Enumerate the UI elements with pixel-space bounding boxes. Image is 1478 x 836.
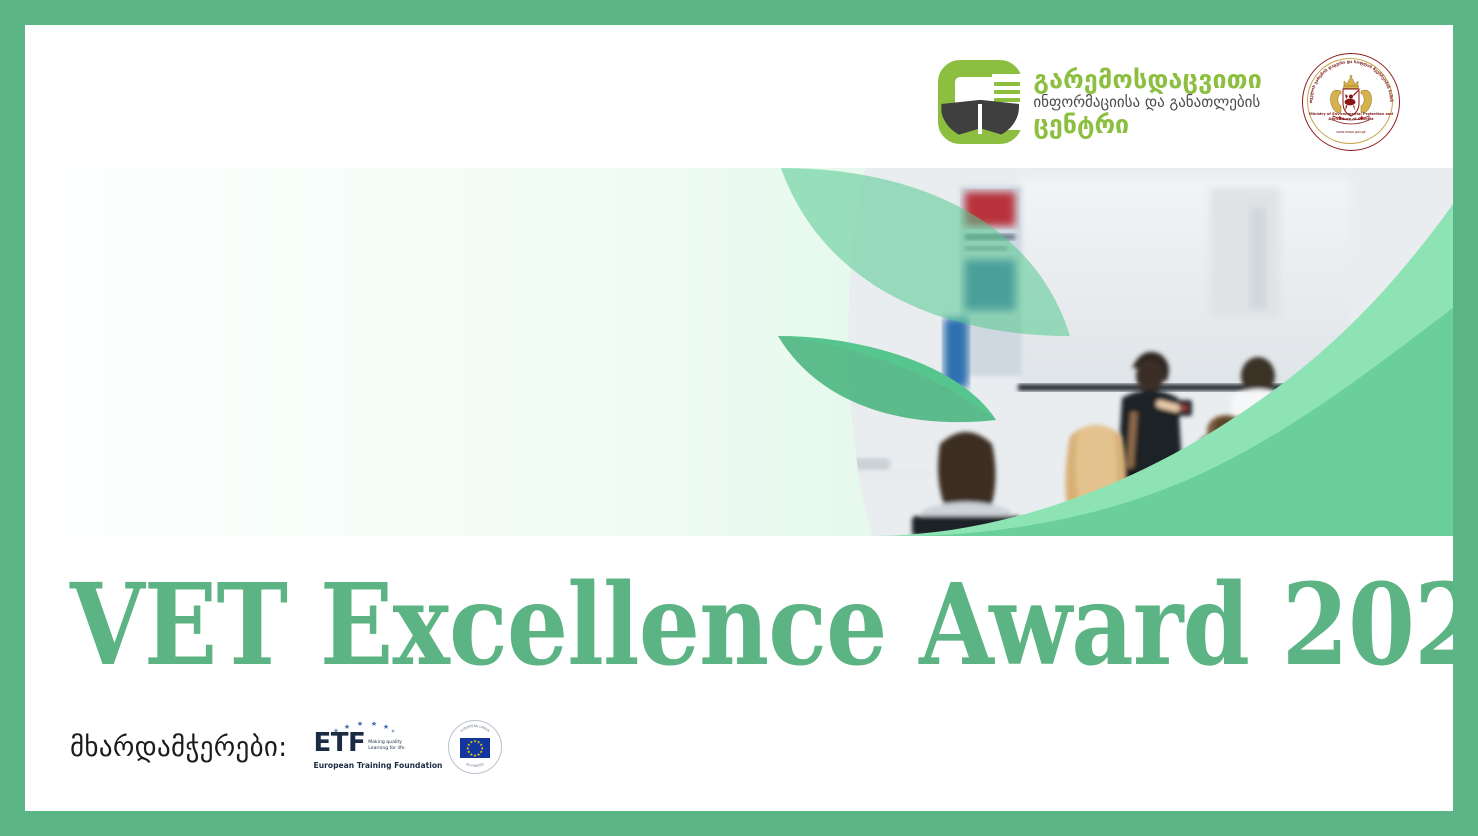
georgia-ministry-seal-icon: საქართველოს გარემოს დაცვისა და სოფლის მე… <box>1302 53 1400 151</box>
poster-canvas: გარემოსდაცვითი ინფორმაციისა და განათლები… <box>25 25 1453 811</box>
hero-graphic <box>60 168 1453 536</box>
etf-logo-icon: ETF Making quality Learning for life Eur… <box>314 719 422 775</box>
supporters-row: მხარდამჭერები: ETF Making <box>70 711 502 783</box>
poster-frame: გარემოსდაცვითი ინფორმაციისა და განათლები… <box>0 0 1478 836</box>
svg-text:EUROPEAN UNION: EUROPEAN UNION <box>459 724 490 733</box>
hero-banner <box>60 168 1453 536</box>
eu-arc-top-text: EUROPEAN UNION <box>459 724 490 733</box>
leaf-book-logo-icon <box>938 60 1022 144</box>
header-band: გარემოსდაცვითი ინფორმაციისა და განათლები… <box>25 25 1453 168</box>
header-logo-row: გარემოსდაცვითი ინფორმაციისა და განათლები… <box>938 53 1400 151</box>
svg-text:EU FUNDED: EU FUNDED <box>465 762 485 768</box>
title-band: VET Excellence Award 2022 <box>25 536 1453 696</box>
ciee-wordmark: გარემოსდაცვითი ინფორმაციისა და განათლები… <box>1033 66 1262 138</box>
seal-center-text: Ministry of Environmental Protection and… <box>1303 112 1399 122</box>
etf-acronym: ETF <box>314 730 366 756</box>
ciee-line1: გარემოსდაცვითი <box>1033 66 1262 93</box>
eu-arc-bottom-text: EU FUNDED <box>465 762 485 768</box>
etf-caption: European Training Foundation <box>314 761 443 770</box>
etf-tagline-line2: Learning for life <box>368 746 404 751</box>
supporters-label: მხარდამჭერები: <box>70 732 288 763</box>
etf-tagline-line1: Making quality <box>368 740 402 745</box>
ciee-line2: ინფორმაციისა და განათლების <box>1033 94 1262 110</box>
etf-tagline: Making quality Learning for life <box>368 740 404 756</box>
page-title: VET Excellence Award 2022 <box>70 570 1453 682</box>
ciee-logo: გარემოსდაცვითი ინფორმაციისა და განათლები… <box>938 60 1262 144</box>
eu-badge-icon: EUROPEAN UNION EU FUNDED <box>448 720 502 774</box>
ciee-line3: ცენტრი <box>1033 111 1262 138</box>
seal-url: www.mepa.gov.ge <box>1303 130 1399 134</box>
